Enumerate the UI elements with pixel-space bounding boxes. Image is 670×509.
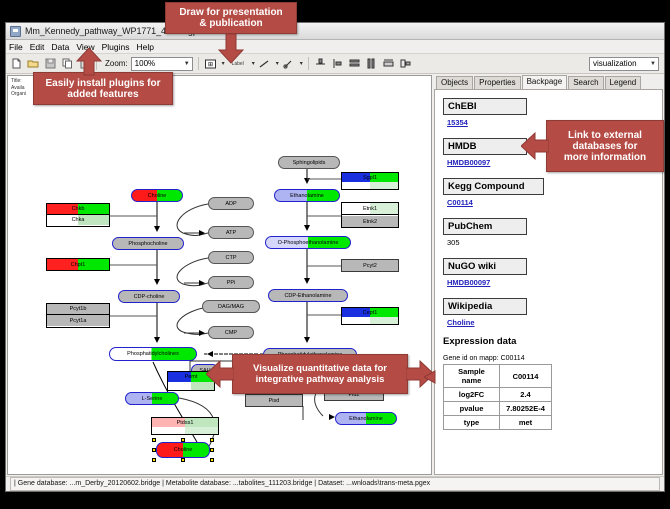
callout-link-arrow [521, 130, 549, 162]
save-icon[interactable] [43, 57, 57, 71]
visualization-value: visualization [593, 59, 637, 68]
callout-expression-arrow [424, 370, 436, 384]
database-value-pubchem: 305 [447, 238, 662, 247]
tab-backpage[interactable]: Backpage [522, 75, 568, 89]
metabolite-node[interactable]: O-Phosphoethanolamine [265, 236, 351, 249]
gene-id-line: Gene id on mapp: C00114 [443, 355, 662, 362]
app-icon [10, 26, 21, 37]
selection-handle [152, 458, 156, 462]
database-link-wikipedia[interactable]: Choline [447, 318, 662, 327]
menu-bar: File Edit Data View Plugins Help [6, 40, 664, 54]
chevron-down-icon: ▼ [184, 61, 190, 67]
gene-node[interactable]: Sgpl1 [342, 173, 398, 182]
zoom-label: Zoom: [105, 59, 128, 68]
new-file-icon[interactable] [9, 57, 23, 71]
callout-link-line3: more information [564, 152, 646, 163]
callout-visualize-line2: integrative pathway analysis [256, 374, 385, 385]
chevron-down-icon-line[interactable]: ▾ [276, 60, 279, 67]
tab-search[interactable]: Search [568, 76, 603, 89]
gene-node[interactable]: Pcyt1b [47, 304, 109, 315]
tab-properties[interactable]: Properties [474, 76, 520, 89]
pathway-canvas[interactable]: Title: Availa Organi [7, 75, 432, 475]
gene-node-lower [342, 317, 398, 324]
menu-plugins[interactable]: Plugins [102, 42, 130, 52]
expression-value: 2.4 [500, 388, 552, 402]
metabolite-node[interactable]: CTP [208, 251, 254, 264]
selection-handle [181, 438, 185, 442]
callout-draw-arrow [216, 34, 246, 64]
callout-visualize-arrow-left [206, 358, 234, 390]
menu-data[interactable]: Data [51, 42, 69, 52]
expression-key: log2FC [444, 388, 500, 402]
expression-key: type [444, 416, 500, 430]
status-bar: | Gene database: ...m_Derby_20120602.bri… [6, 476, 664, 491]
database-header-wikipedia: Wikipedia [443, 298, 527, 315]
selection-handle [210, 448, 214, 452]
metabolite-node[interactable]: Sphingolipids [278, 156, 340, 169]
callout-plugins: Easily install plugins for added feature… [33, 72, 173, 105]
zoom-select[interactable]: 100% ▼ [131, 57, 193, 71]
line-tool-icon[interactable] [258, 57, 272, 71]
gene-group-etnk[interactable]: Etnk1 Etnk2 [341, 202, 399, 228]
group-icon[interactable] [399, 57, 413, 71]
chevron-down-icon-label[interactable]: ▾ [252, 60, 255, 67]
database-header-nugo: NuGO wiki [443, 258, 527, 275]
table-row: pvalue 7.80252E-4 [444, 402, 552, 416]
visualization-select[interactable]: visualization ▼ [589, 57, 659, 71]
callout-draw-line2: & publication [199, 18, 262, 29]
metabolite-node[interactable]: Phosphocholine [112, 237, 184, 250]
svg-text:⊞: ⊞ [208, 62, 213, 68]
gene-group-pcyt[interactable]: Pcyt1b Pcyt1a [46, 303, 110, 328]
metabolite-node[interactable]: Ethanolamine [274, 189, 340, 202]
expression-value: met [500, 416, 552, 430]
callout-plugins-line1: Easily install plugins for [45, 78, 160, 89]
metabolite-node-selected[interactable]: Choline [156, 442, 210, 458]
selected-node-wrapper[interactable]: Choline [152, 438, 214, 462]
metabolite-node[interactable]: L-Serine [125, 392, 179, 405]
callout-link: Link to external databases for more info… [546, 120, 664, 172]
selection-handle [152, 448, 156, 452]
selection-handle [210, 458, 214, 462]
metabolite-node[interactable]: PPi [208, 276, 254, 289]
metabolite-node[interactable]: Choline [131, 189, 183, 202]
toolbar: Zoom: 100% ▼ ⊞ ▾ Label ▾ ▾ ▾ [6, 54, 664, 74]
database-header-hmdb: HMDB [443, 138, 527, 155]
callout-visualize: Visualize quantitative data for integrat… [232, 354, 408, 394]
copy-icon[interactable] [60, 57, 74, 71]
align-top-icon[interactable] [314, 57, 328, 71]
align-left-icon[interactable] [331, 57, 345, 71]
gene-node[interactable]: Cept1 [342, 308, 398, 317]
database-link-kegg[interactable]: C00114 [447, 198, 662, 207]
pathway-meta: Title: Availa Organi [11, 78, 26, 98]
expression-table: Sample name C00114 log2FC 2.4 pvalue 7.8… [443, 364, 552, 430]
gene-node[interactable]: Ptdss1 [152, 418, 218, 427]
gene-node[interactable]: Pcyt2 [341, 259, 399, 272]
expression-key: pvalue [444, 402, 500, 416]
callout-plugins-arrow [74, 48, 104, 76]
metabolite-node[interactable]: Phosphatidylcholines [109, 347, 197, 361]
expression-key: Sample name [444, 365, 500, 388]
toolbar-separator-3 [308, 57, 309, 70]
menu-help[interactable]: Help [137, 42, 154, 52]
metabolite-node[interactable]: CDP-Ethanolamine [268, 289, 348, 302]
tab-objects[interactable]: Objects [436, 76, 473, 89]
common-size-icon[interactable] [382, 57, 396, 71]
selection-handle [181, 458, 185, 462]
zoom-value: 100% [135, 59, 155, 68]
tab-legend[interactable]: Legend [605, 76, 642, 89]
anchor-tool-icon[interactable] [282, 57, 296, 71]
open-folder-icon[interactable] [26, 57, 40, 71]
metabolite-node[interactable]: DAG/MAG [202, 300, 260, 313]
gene-node-lower [152, 427, 218, 434]
title-bar: Mm_Kennedy_pathway_WP1771_45176.gpml [6, 23, 664, 40]
database-link-nugo[interactable]: HMDB00097 [447, 278, 662, 287]
callout-draw: Draw for presentation & publication [165, 2, 297, 34]
gene-group-ptdss1[interactable]: Ptdss1 [151, 417, 219, 435]
metabolite-node[interactable]: ATP [208, 226, 254, 239]
metabolite-node[interactable]: CMP [208, 326, 254, 339]
stack-vertical-icon[interactable] [348, 57, 362, 71]
gene-node[interactable]: Etnk1 [342, 203, 398, 215]
callout-plugins-line2: added features [67, 89, 138, 100]
expression-value: 7.80252E-4 [500, 402, 552, 416]
gene-group-sgpl1[interactable]: Sgpl1 [341, 172, 399, 190]
gene-node[interactable]: Etnk2 [342, 216, 398, 227]
callout-link-line2: databases for [572, 141, 637, 152]
database-header-kegg: Kegg Compound [443, 178, 544, 195]
stack-horizontal-icon[interactable] [365, 57, 379, 71]
gene-node[interactable]: Pisd [245, 394, 303, 407]
menu-edit[interactable]: Edit [30, 42, 45, 52]
chevron-down-icon-anchor[interactable]: ▾ [300, 60, 303, 67]
gene-node[interactable]: Chpt1 [46, 258, 110, 271]
metabolite-node[interactable]: Ethanolamine [335, 412, 397, 425]
selection-handle [152, 438, 156, 442]
expression-data-title: Expression data [443, 336, 662, 347]
status-text: | Gene database: ...m_Derby_20120602.bri… [10, 477, 660, 491]
callout-link-line1: Link to external [568, 130, 642, 141]
database-header-pubchem: PubChem [443, 218, 527, 235]
table-row: type met [444, 416, 552, 430]
meta-organism: Organi [11, 91, 26, 98]
expression-value: C00114 [500, 365, 552, 388]
gene-group-cept1[interactable]: Cept1 [341, 307, 399, 325]
selection-handle [210, 438, 214, 442]
side-panel-tabs: Objects Properties Backpage Search Legen… [434, 75, 663, 89]
gene-node[interactable]: Chka [47, 215, 109, 225]
metabolite-node[interactable]: ADP [208, 197, 254, 210]
gene-node[interactable]: Pcyt1a [47, 315, 109, 326]
callout-visualize-line1: Visualize quantitative data for [253, 363, 387, 374]
callout-draw-line1: Draw for presentation [179, 7, 282, 18]
gene-node[interactable]: Chkb [47, 204, 109, 215]
metabolite-node[interactable]: CDP-choline [118, 290, 180, 303]
gene-group-chk[interactable]: Chkb Chka [46, 203, 110, 227]
chevron-down-icon-visualization: ▼ [650, 61, 656, 67]
table-row: log2FC 2.4 [444, 388, 552, 402]
gene-node-lower [342, 182, 398, 189]
menu-file[interactable]: File [9, 42, 23, 52]
table-row: Sample name C00114 [444, 365, 552, 388]
toolbar-separator-2 [198, 57, 199, 70]
database-header-chebi: ChEBI [443, 98, 527, 115]
